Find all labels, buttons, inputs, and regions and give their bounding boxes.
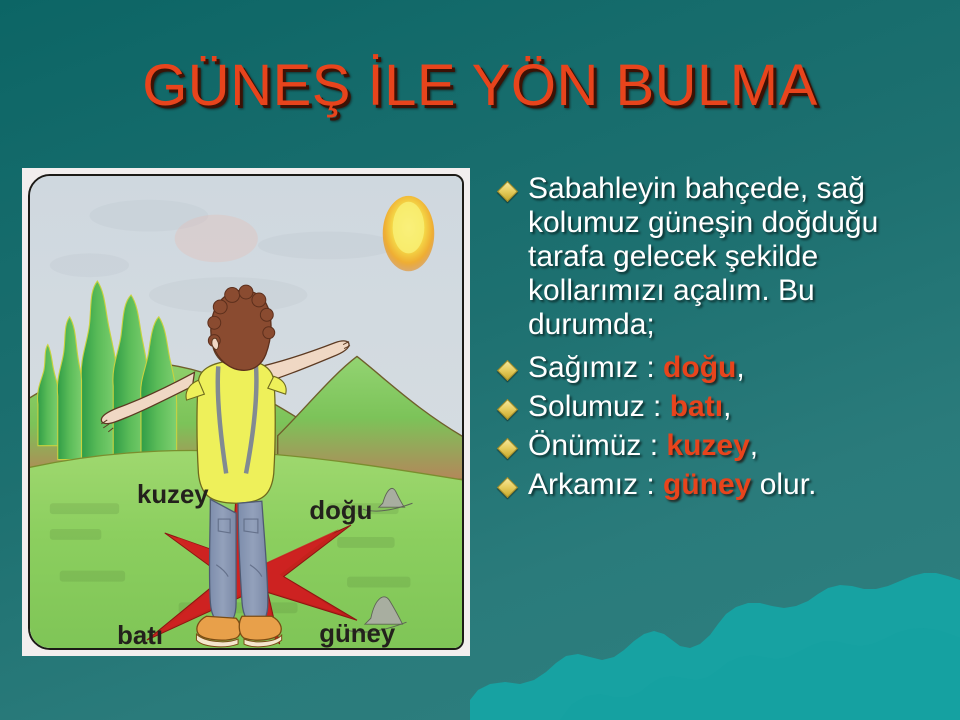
bullet-tail: olur. (751, 468, 816, 501)
bullet-direction-left: Solumuz : batı, (528, 390, 938, 424)
bullet-tail: , (723, 390, 731, 423)
bullet-highlight: kuzey (666, 429, 749, 462)
bullet-label: Solumuz : (528, 390, 670, 423)
bullet-highlight: batı (670, 390, 723, 423)
diamond-bullet-icon (497, 181, 518, 202)
bullet-tail: , (750, 429, 758, 462)
bullet-highlight: doğu (663, 351, 736, 384)
list-item: Arkamız : güney olur. (496, 468, 938, 505)
illustration-image: kuzey doğu batı güney (28, 174, 464, 650)
diamond-bullet-icon (497, 477, 518, 498)
list-item: Solumuz : batı, (496, 390, 938, 427)
bullet-label: Arkamız : (528, 468, 663, 501)
illustration-label-east: doğu (309, 497, 372, 525)
list-item: Sağımız : doğu, (496, 351, 938, 388)
illustration-label-north: kuzey (137, 481, 209, 509)
list-item: Sabahleyin bahçede, sağ kolumuz güneşin … (496, 172, 938, 349)
bullet-label: Sağımız : (528, 351, 663, 384)
page-title: GÜNEŞ İLE YÖN BULMA (0, 52, 960, 119)
diamond-bullet-icon (497, 399, 518, 420)
bullet-list: Sabahleyin bahçede, sağ kolumuz güneşin … (496, 172, 938, 507)
bullet-highlight: güney (663, 468, 751, 501)
diamond-bullet-icon (497, 438, 518, 459)
diamond-bullet-icon (497, 360, 518, 381)
illustration-label-west: batı (117, 622, 163, 648)
bullet-direction-right: Sağımız : doğu, (528, 351, 938, 385)
list-item: Önümüz : kuzey, (496, 429, 938, 466)
illustration-frame: kuzey doğu batı güney (22, 168, 470, 656)
bullet-direction-back: Arkamız : güney olur. (528, 468, 938, 502)
bullet-tail: , (736, 351, 744, 384)
bullet-label: Önümüz : (528, 429, 666, 462)
illustration-drawing: kuzey doğu batı güney (30, 176, 462, 648)
bullet-paragraph: Sabahleyin bahçede, sağ kolumuz güneşin … (528, 172, 938, 341)
illustration-label-south: güney (319, 620, 396, 648)
presentation-slide: GÜNEŞ İLE YÖN BULMA (0, 0, 960, 720)
bullet-direction-front: Önümüz : kuzey, (528, 429, 938, 463)
